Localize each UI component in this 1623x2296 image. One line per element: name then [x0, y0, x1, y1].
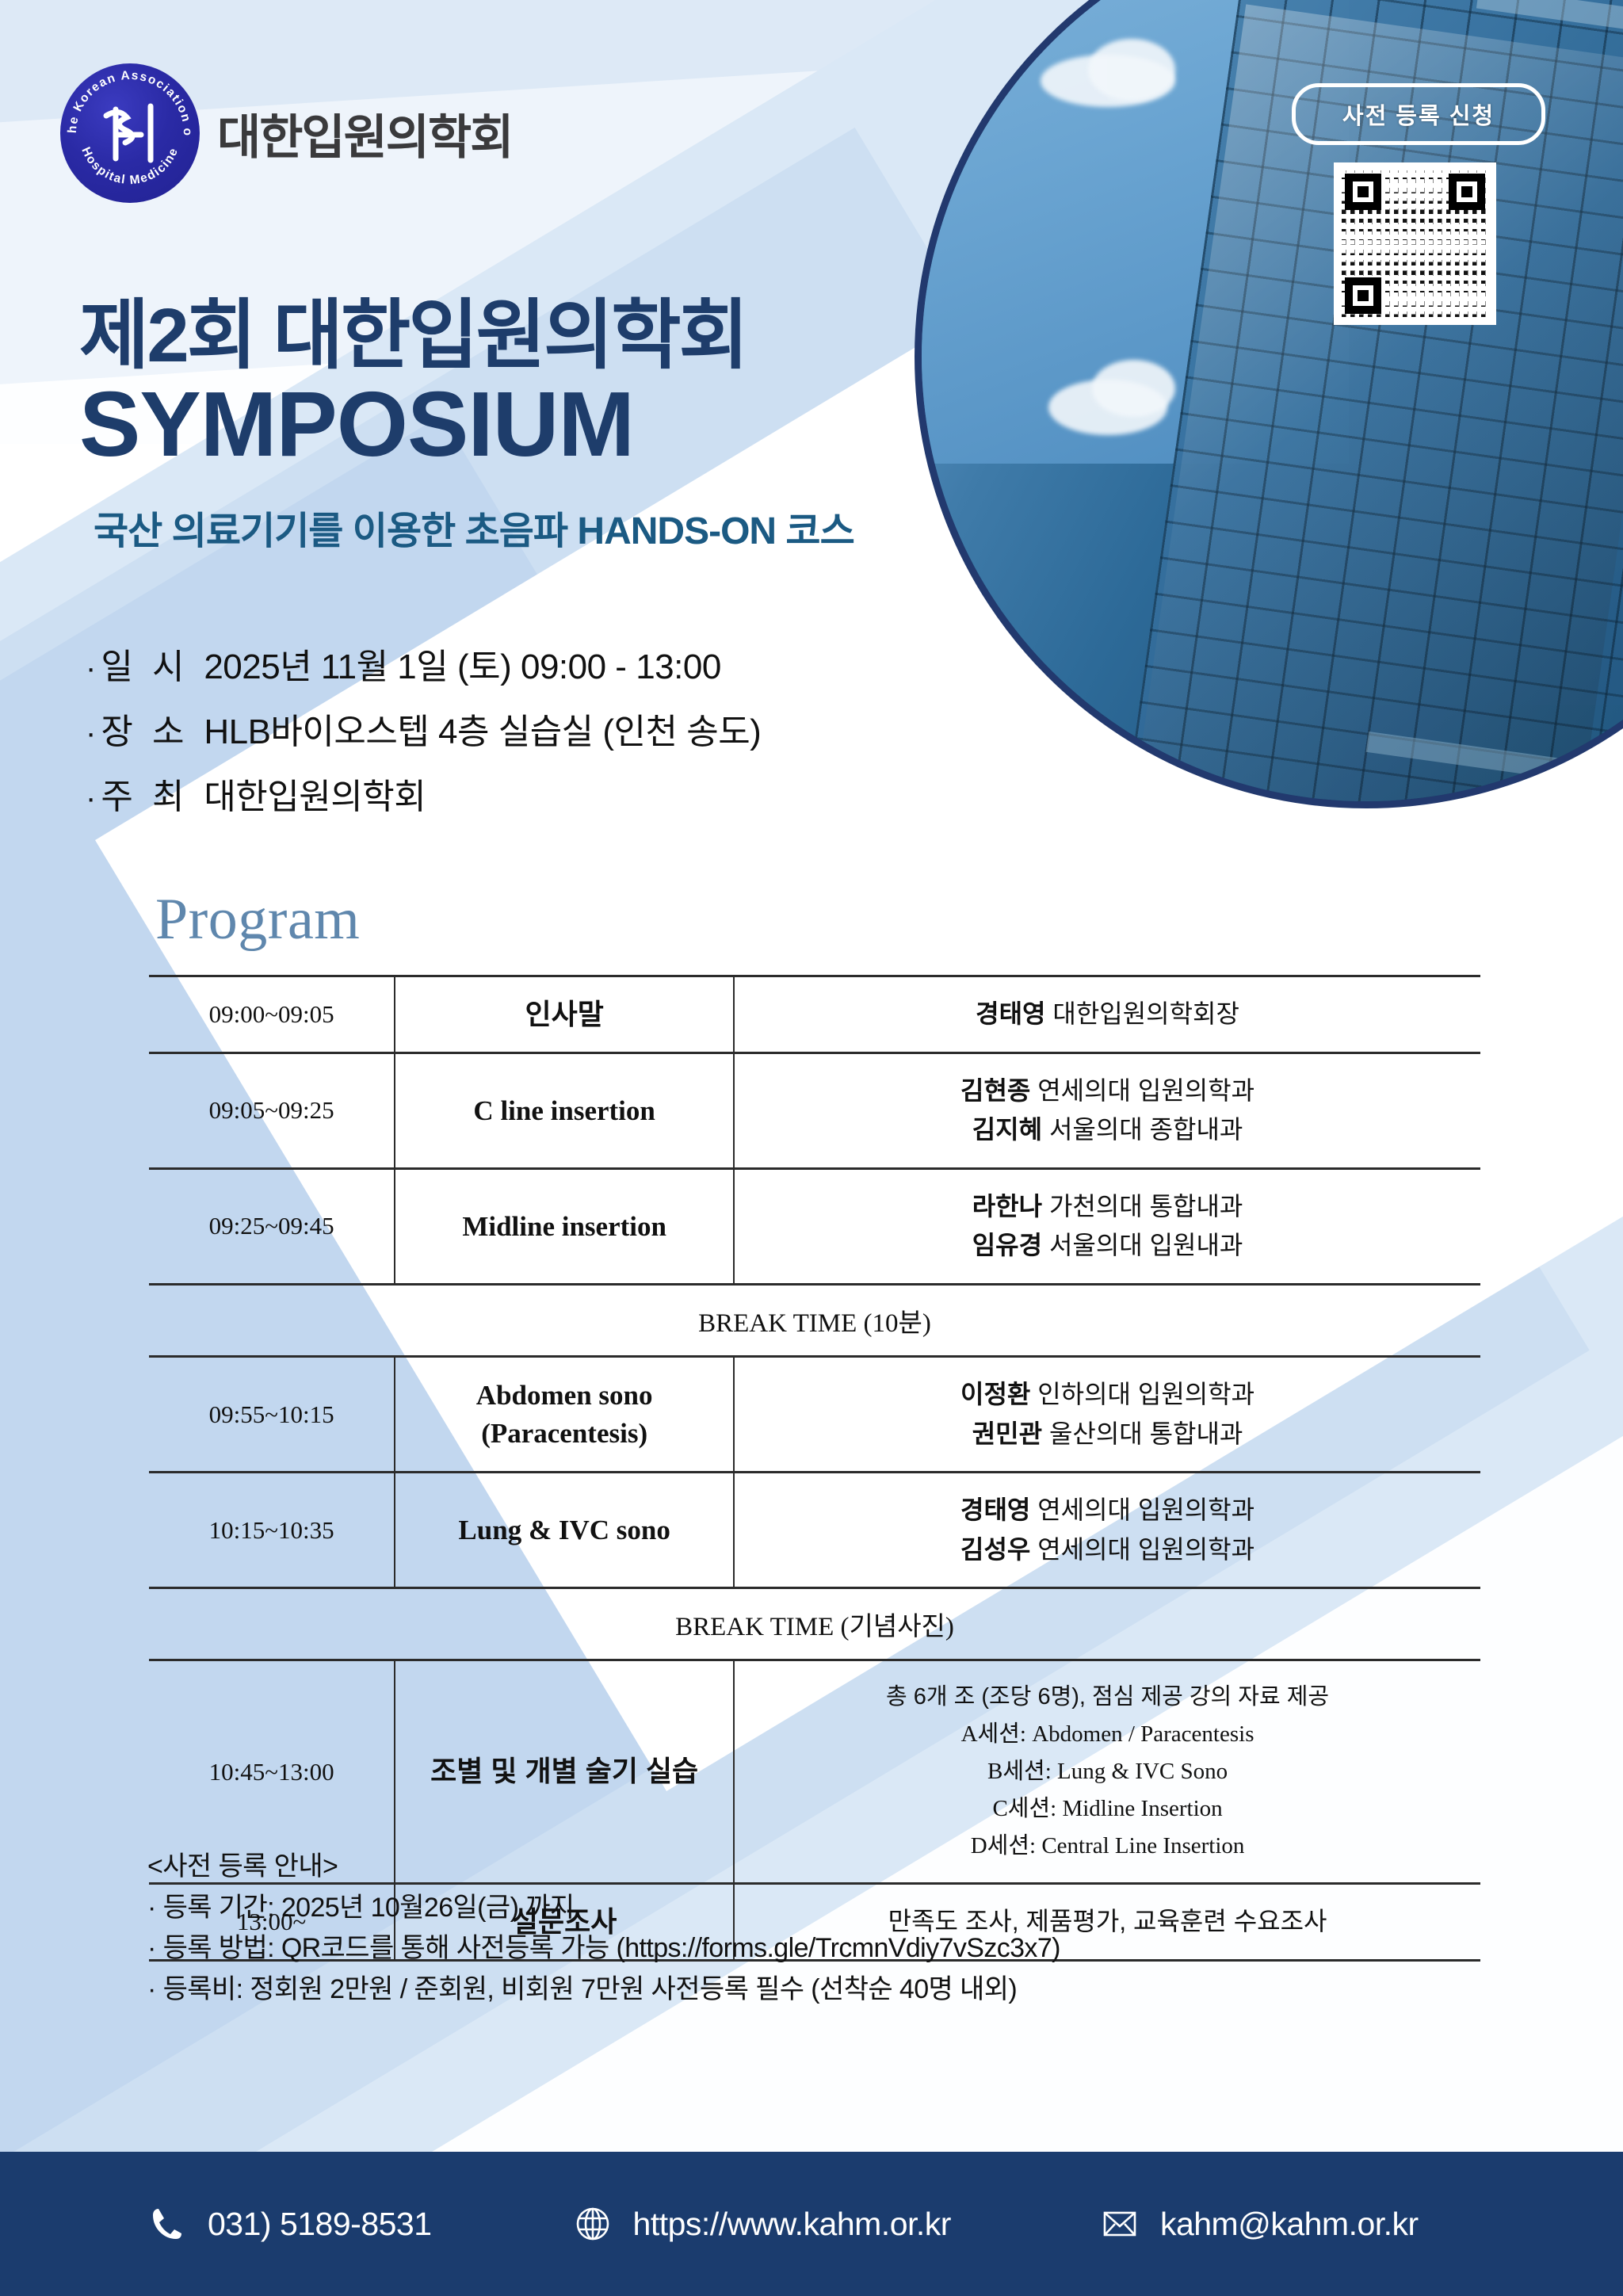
- poster-canvas: 사전 등록 신청 The Korean Association of: [0, 0, 1623, 2296]
- session-detail-list: 총 6개 조 (조당 6명), 점심 제공 강의 자료 제공A세션: Abdom…: [743, 1679, 1472, 1865]
- program-row: 09:25~09:45Midline insertion라한나 가천의대 통합내…: [149, 1168, 1480, 1284]
- event-info-label: 일 시: [101, 638, 204, 689]
- footer-phone-text: 031) 5189-8531: [208, 2206, 432, 2243]
- session-detail-line: A세션: Abdomen / Paracentesis: [743, 1716, 1472, 1753]
- event-info-label: 장 소: [101, 703, 204, 754]
- speaker-name: 김현종: [960, 1076, 1030, 1105]
- qr-finder-top-left: [1345, 174, 1381, 210]
- notes-line: · 등록 방법: QR코드를 통해 사전등록 가능 (https://forms…: [147, 1928, 1060, 1969]
- event-info-value: 2025년 11월 1일 (토) 09:00 - 13:00: [204, 638, 720, 689]
- qr-finder-bottom-left: [1345, 277, 1381, 314]
- registration-notes: <사전 등록 안내> · 등록 기간: 2025년 10월26일(금) 까지 ·…: [147, 1847, 1060, 2011]
- pre-registration-label: 사전 등록 신청: [1342, 97, 1495, 131]
- logo-emblem: The Korean Association of Hospital Medic…: [60, 63, 200, 203]
- program-time: 10:15~10:35: [149, 1473, 395, 1588]
- footer-phone[interactable]: 031) 5189-8531: [147, 2204, 432, 2244]
- footer-website-text: https://www.kahm.or.kr: [633, 2206, 951, 2243]
- program-row: 09:05~09:25C line insertion김현종 연세의대 입원의학…: [149, 1052, 1480, 1168]
- event-info-row: · 주 최 대한입원의학회: [86, 768, 761, 819]
- speaker-affiliation: 대한입원의학회장: [1046, 999, 1239, 1028]
- program-speakers: 경태영 연세의대 입원의학과김성우 연세의대 입원의학과: [734, 1473, 1480, 1588]
- cloud-icon: [1092, 360, 1175, 417]
- speaker-affiliation: 서울의대 입원내과: [1042, 1231, 1243, 1259]
- program-time: 09:25~09:45: [149, 1168, 395, 1284]
- speaker-entry: 김현종 연세의대 입원의학과: [743, 1072, 1472, 1111]
- break-label: BREAK TIME (10분): [149, 1284, 1480, 1356]
- break-label: BREAK TIME (기념사진): [149, 1588, 1480, 1660]
- program-topic: Midline insertion: [395, 1168, 734, 1284]
- speaker-name: 임유경: [972, 1231, 1042, 1259]
- poster-title-line1: 제2회 대한입원의학회: [79, 273, 747, 384]
- caduceus-h-icon: [89, 92, 171, 174]
- program-heading: Program: [155, 886, 360, 953]
- session-detail-line: C세션: Midline Insertion: [743, 1790, 1472, 1828]
- speaker-affiliation: 인하의대 입원의학과: [1030, 1380, 1254, 1408]
- phone-icon: [147, 2204, 187, 2244]
- speaker-name: 이정환: [960, 1380, 1030, 1408]
- program-topic: Abdomen sono(Paracentesis): [395, 1356, 734, 1472]
- speaker-name: 경태영: [960, 1496, 1030, 1524]
- speaker-entry: 라한나 가천의대 통합내과: [743, 1187, 1472, 1227]
- speaker-affiliation: 연세의대 입원의학과: [1030, 1076, 1254, 1105]
- footer-email-text: kahm@kahm.or.kr: [1160, 2206, 1419, 2243]
- program-speakers: 김현종 연세의대 입원의학과김지혜 서울의대 종합내과: [734, 1052, 1480, 1168]
- program-time: 09:55~10:15: [149, 1356, 395, 1472]
- event-info-block: · 일 시 2025년 11월 1일 (토) 09:00 - 13:00 · 장…: [86, 638, 761, 833]
- program-speakers: 경태영 대한입원의학회장: [734, 976, 1480, 1053]
- event-info-value: 대한입원의학회: [204, 768, 426, 819]
- program-time: 09:00~09:05: [149, 976, 395, 1053]
- event-info-value: HLB바이오스텝 4층 실습실 (인천 송도): [204, 703, 761, 754]
- speaker-entry: 김지혜 서울의대 종합내과: [743, 1110, 1472, 1150]
- qr-canvas: [1342, 170, 1488, 317]
- speaker-name: 권민관: [972, 1419, 1042, 1448]
- event-info-row: · 일 시 2025년 11월 1일 (토) 09:00 - 13:00: [86, 638, 761, 689]
- speaker-name: 김성우: [960, 1535, 1030, 1564]
- speaker-entry: 경태영 연세의대 입원의학과: [743, 1491, 1472, 1530]
- footer-email[interactable]: kahm@kahm.or.kr: [1100, 2204, 1419, 2244]
- speaker-entry: 임유경 서울의대 입원내과: [743, 1226, 1472, 1266]
- program-break-row: BREAK TIME (기념사진): [149, 1588, 1480, 1660]
- speaker-entry: 김성우 연세의대 입원의학과: [743, 1530, 1472, 1570]
- association-logo: The Korean Association of Hospital Medic…: [60, 63, 512, 203]
- cloud-icon: [1088, 39, 1175, 101]
- qr-finder-top-right: [1449, 174, 1485, 210]
- qr-code[interactable]: [1334, 162, 1496, 325]
- poster-subtitle: 국산 의료기기를 이용한 초음파 HANDS-ON 코스: [94, 499, 854, 555]
- program-topic: C line insertion: [395, 1052, 734, 1168]
- speaker-affiliation: 가천의대 통합내과: [1042, 1192, 1243, 1221]
- speaker-name: 경태영: [976, 999, 1045, 1028]
- bullet-icon: ·: [86, 652, 96, 684]
- speaker-affiliation: 연세의대 입원의학과: [1030, 1535, 1254, 1564]
- organization-name: 대한입원의학회: [217, 99, 512, 168]
- notes-line: · 등록비: 정회원 2만원 / 준회원, 비회원 7만원 사전등록 필수 (선…: [147, 1969, 1060, 2011]
- speaker-entry: 권민관 울산의대 통합내과: [743, 1415, 1472, 1454]
- speaker-affiliation: 서울의대 종합내과: [1042, 1115, 1243, 1144]
- session-detail-line: B세션: Lung & IVC Sono: [743, 1753, 1472, 1790]
- footer-bar: 031) 5189-8531 https://www.kahm.or.kr: [0, 2152, 1623, 2296]
- notes-heading: <사전 등록 안내>: [147, 1847, 1060, 1888]
- program-row: 10:15~10:35Lung & IVC sono경태영 연세의대 입원의학과…: [149, 1473, 1480, 1588]
- footer-website[interactable]: https://www.kahm.or.kr: [573, 2204, 951, 2244]
- program-topic: Lung & IVC sono: [395, 1473, 734, 1588]
- speaker-name: 라한나: [972, 1192, 1042, 1221]
- envelope-icon: [1100, 2204, 1140, 2244]
- notes-line: · 등록 기간: 2025년 10월26일(금) 까지: [147, 1888, 1060, 1929]
- event-info-row: · 장 소 HLB바이오스텝 4층 실습실 (인천 송도): [86, 703, 761, 754]
- program-break-row: BREAK TIME (10분): [149, 1284, 1480, 1356]
- speaker-name: 김지혜: [972, 1115, 1042, 1144]
- program-speakers: 라한나 가천의대 통합내과임유경 서울의대 입원내과: [734, 1168, 1480, 1284]
- program-time: 09:05~09:25: [149, 1052, 395, 1168]
- globe-icon: [573, 2204, 613, 2244]
- program-row: 09:00~09:05인사말경태영 대한입원의학회장: [149, 976, 1480, 1053]
- bullet-icon: ·: [86, 717, 96, 749]
- poster-title-line2: SYMPOSIUM: [79, 371, 634, 477]
- speaker-affiliation: 연세의대 입원의학과: [1030, 1496, 1254, 1524]
- speaker-affiliation: 울산의대 통합내과: [1042, 1419, 1243, 1448]
- program-topic: 인사말: [395, 976, 734, 1053]
- speaker-entry: 이정환 인하의대 입원의학과: [743, 1375, 1472, 1415]
- event-info-label: 주 최: [101, 768, 204, 819]
- pre-registration-badge[interactable]: 사전 등록 신청: [1292, 83, 1545, 145]
- session-detail-line: 총 6개 조 (조당 6명), 점심 제공 강의 자료 제공: [743, 1679, 1472, 1716]
- program-table: 09:00~09:05인사말경태영 대한입원의학회장09:05~09:25C l…: [149, 975, 1480, 1962]
- bullet-icon: ·: [86, 782, 96, 814]
- speaker-entry: 경태영 대한입원의학회장: [743, 995, 1472, 1034]
- program-row: 09:55~10:15Abdomen sono(Paracentesis)이정환…: [149, 1356, 1480, 1472]
- program-speakers: 이정환 인하의대 입원의학과권민관 울산의대 통합내과: [734, 1356, 1480, 1472]
